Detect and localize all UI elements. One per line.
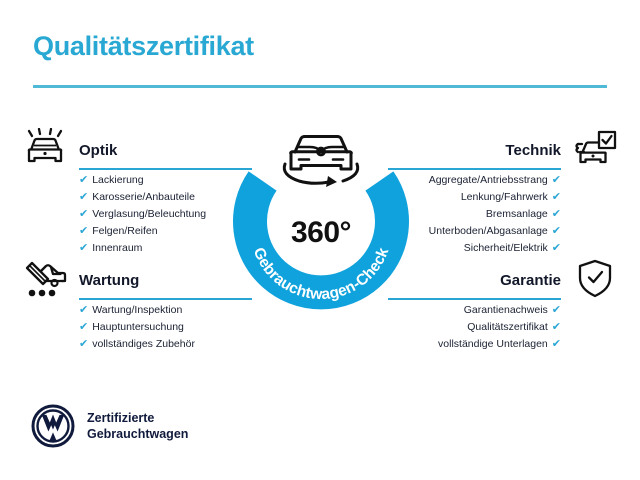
list-item-label: Unterboden/Abgasanlage bbox=[429, 225, 548, 237]
section-garantie-title: Garantie bbox=[500, 272, 561, 289]
list-item-label: Wartung/Inspektion bbox=[92, 304, 182, 316]
list-item-label: Garantienachweis bbox=[464, 304, 548, 316]
list-item-label: Qualitätszertifikat bbox=[467, 321, 548, 333]
page-title: Qualitätszertifikat bbox=[33, 31, 254, 62]
check-icon: ✔ bbox=[79, 319, 88, 336]
check-icon: ✔ bbox=[552, 240, 561, 257]
check-icon: ✔ bbox=[552, 319, 561, 336]
footer-brand: Zertifizierte Gebrauchtwagen bbox=[31, 404, 188, 448]
vw-logo bbox=[31, 404, 75, 448]
section-wartung-title: Wartung bbox=[79, 272, 139, 289]
check-icon: ✔ bbox=[552, 172, 561, 189]
list-item-label: Karosserie/Anbauteile bbox=[92, 191, 195, 203]
rotation-arrowhead bbox=[326, 176, 337, 187]
section-technik-header: Technik bbox=[388, 128, 618, 172]
list-item-label: Innenraum bbox=[92, 242, 142, 254]
list-item-label: Sicherheit/Elektrik bbox=[464, 242, 548, 254]
list-item-label: vollständiges Zubehör bbox=[92, 338, 195, 350]
list-item-label: Hauptuntersuchung bbox=[92, 321, 184, 333]
car-front-checkbox-icon bbox=[572, 128, 618, 170]
header-divider bbox=[33, 85, 607, 88]
check-icon: ✔ bbox=[79, 189, 88, 206]
footer-text: Zertifizierte Gebrauchtwagen bbox=[87, 410, 188, 442]
360-check-badge: Gebrauchtwagen-Check 360° bbox=[226, 118, 416, 310]
check-icon: ✔ bbox=[552, 336, 561, 353]
section-wartung: Wartung ✔Wartung/Inspektion ✔Hauptunters… bbox=[22, 258, 252, 353]
section-wartung-list: ✔Wartung/Inspektion ✔Hauptuntersuchung ✔… bbox=[22, 302, 252, 353]
list-item: Qualitätszertifikat✔ bbox=[388, 319, 561, 336]
check-icon: ✔ bbox=[552, 302, 561, 319]
section-garantie-list: Garantienachweis✔ Qualitätszertifikat✔ v… bbox=[388, 302, 618, 353]
check-icon: ✔ bbox=[552, 189, 561, 206]
badge-value: 360° bbox=[226, 216, 416, 250]
list-item-label: Lackierung bbox=[92, 174, 143, 186]
section-garantie-header: Garantie bbox=[388, 258, 618, 302]
certificate-page: Qualitätszertifikat bbox=[0, 0, 640, 480]
check-icon: ✔ bbox=[552, 223, 561, 240]
check-icon: ✔ bbox=[79, 206, 88, 223]
list-item: ✔vollständiges Zubehör bbox=[79, 336, 252, 353]
check-icon: ✔ bbox=[79, 302, 88, 319]
section-technik-title: Technik bbox=[505, 142, 561, 159]
list-item-label: Aggregate/Antriebsstrang bbox=[429, 174, 548, 186]
list-item: vollständige Unterlagen✔ bbox=[388, 336, 561, 353]
car-front-shine-icon bbox=[22, 128, 68, 170]
list-item-label: Felgen/Reifen bbox=[92, 225, 157, 237]
section-technik-list: Aggregate/Antriebsstrang✔ Lenkung/Fahrwe… bbox=[388, 172, 618, 257]
section-technik: Technik Aggregate/Antriebsstrang✔ Lenkun… bbox=[388, 128, 618, 257]
check-icon: ✔ bbox=[79, 336, 88, 353]
list-item-label: Bremsanlage bbox=[486, 208, 548, 220]
section-garantie: Garantie Garantienachweis✔ Qualitätszert… bbox=[388, 258, 618, 353]
section-optik: Optik ✔Lackierung ✔Karosserie/Anbauteile… bbox=[22, 128, 252, 257]
car-service-wrench-icon bbox=[22, 258, 68, 300]
section-optik-list: ✔Lackierung ✔Karosserie/Anbauteile ✔Verg… bbox=[22, 172, 252, 257]
shield-check-icon bbox=[572, 258, 618, 300]
section-wartung-header: Wartung bbox=[22, 258, 252, 302]
section-optik-header: Optik bbox=[22, 128, 252, 172]
car-rotate-360-icon bbox=[284, 137, 357, 188]
list-item-label: Lenkung/Fahrwerk bbox=[461, 191, 548, 203]
check-icon: ✔ bbox=[79, 223, 88, 240]
check-icon: ✔ bbox=[552, 206, 561, 223]
list-item-label: Verglasung/Beleuchtung bbox=[92, 208, 206, 220]
list-item: ✔Hauptuntersuchung bbox=[79, 319, 252, 336]
section-optik-title: Optik bbox=[79, 142, 117, 159]
check-icon: ✔ bbox=[79, 240, 88, 257]
check-icon: ✔ bbox=[79, 172, 88, 189]
list-item-label: vollständige Unterlagen bbox=[438, 338, 548, 350]
